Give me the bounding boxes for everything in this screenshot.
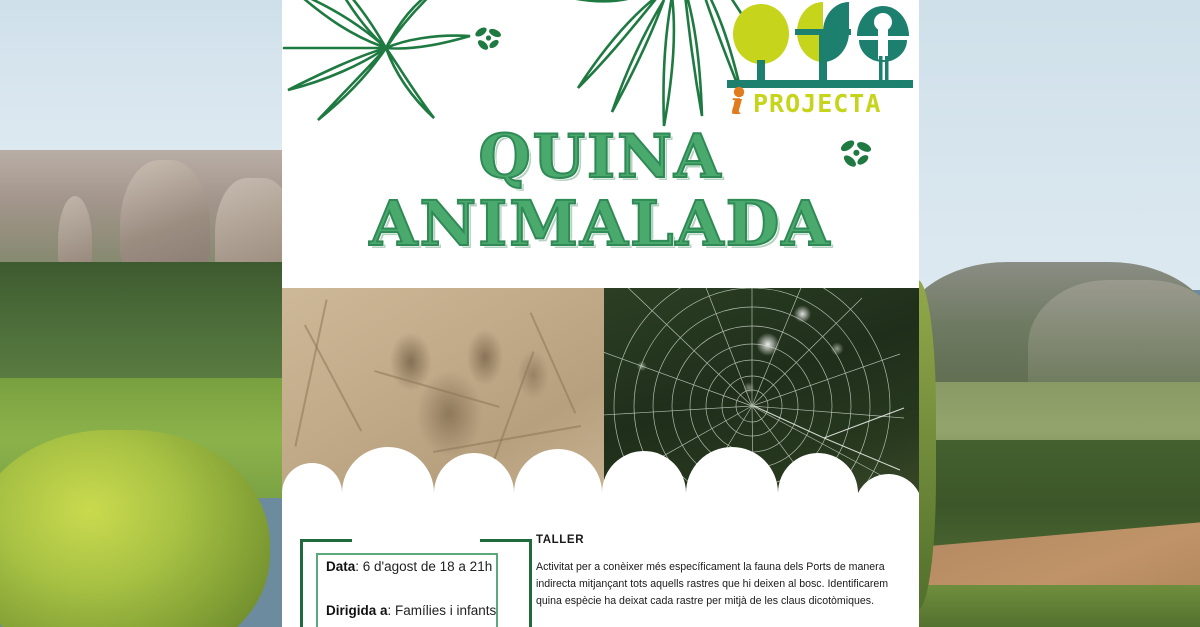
background-left-photo [0,0,292,627]
workshop-block: TALLER Activitat per a conèixer més espe… [536,534,906,610]
vineyard-region [908,585,1200,627]
background-right-photo [908,0,1200,627]
inner-rule-top [316,553,498,555]
palm-frond-icon [282,0,494,124]
scalloped-divider [282,447,919,507]
title-line-1: QUINA [282,128,919,187]
bracket-top-right [480,539,532,542]
bracket-right [529,539,532,627]
details-box: Data: 6 d'agost de 18 a 21h Dirigida a: … [300,535,532,627]
bracket-left [300,539,303,627]
workshop-heading: TALLER [536,534,906,546]
mountain-region [1028,280,1200,390]
detail-date: Data: 6 d'agost de 18 a 21h [326,559,492,575]
poster-footer: Data: 6 d'agost de 18 a 21h Dirigida a: … [282,518,919,627]
iprojecta-logo[interactable]: i PROJECTA [727,2,913,114]
poster-stage: i PROJECTA QUINA ANIMALADA [0,0,1200,627]
rock-formation [120,160,210,270]
title-line-2: ANIMALADA [282,193,919,254]
detail-audience-value: : Famílies i infants [388,603,497,618]
tree-person-icon [857,6,909,82]
bracket-top-left [300,539,352,542]
tree-quadrant-icon [795,2,851,82]
svg-text:i: i [731,87,742,114]
poster-title: QUINA ANIMALADA [282,128,919,255]
poster-panel: i PROJECTA QUINA ANIMALADA [282,0,919,627]
forest-region [0,262,292,392]
detail-audience-label: Dirigida a [326,603,388,618]
detail-audience: Dirigida a: Famílies i infants [326,603,496,619]
logo-letter-i: i [731,87,744,114]
photo-band [282,288,919,505]
sky-region [908,0,1200,290]
logo-wordmark: PROJECTA [753,89,881,114]
svg-text:PROJECTA: PROJECTA [753,89,881,114]
ground-bar [727,80,913,88]
workshop-body: Activitat per a conèixer més específicam… [536,559,906,610]
inner-rule-left [316,553,318,627]
detail-date-value: : 6 d'agost de 18 a 21h [355,559,492,574]
detail-date-label: Data [326,559,355,574]
leaf-sprig-icon [472,22,506,56]
tree-icon [733,4,789,82]
